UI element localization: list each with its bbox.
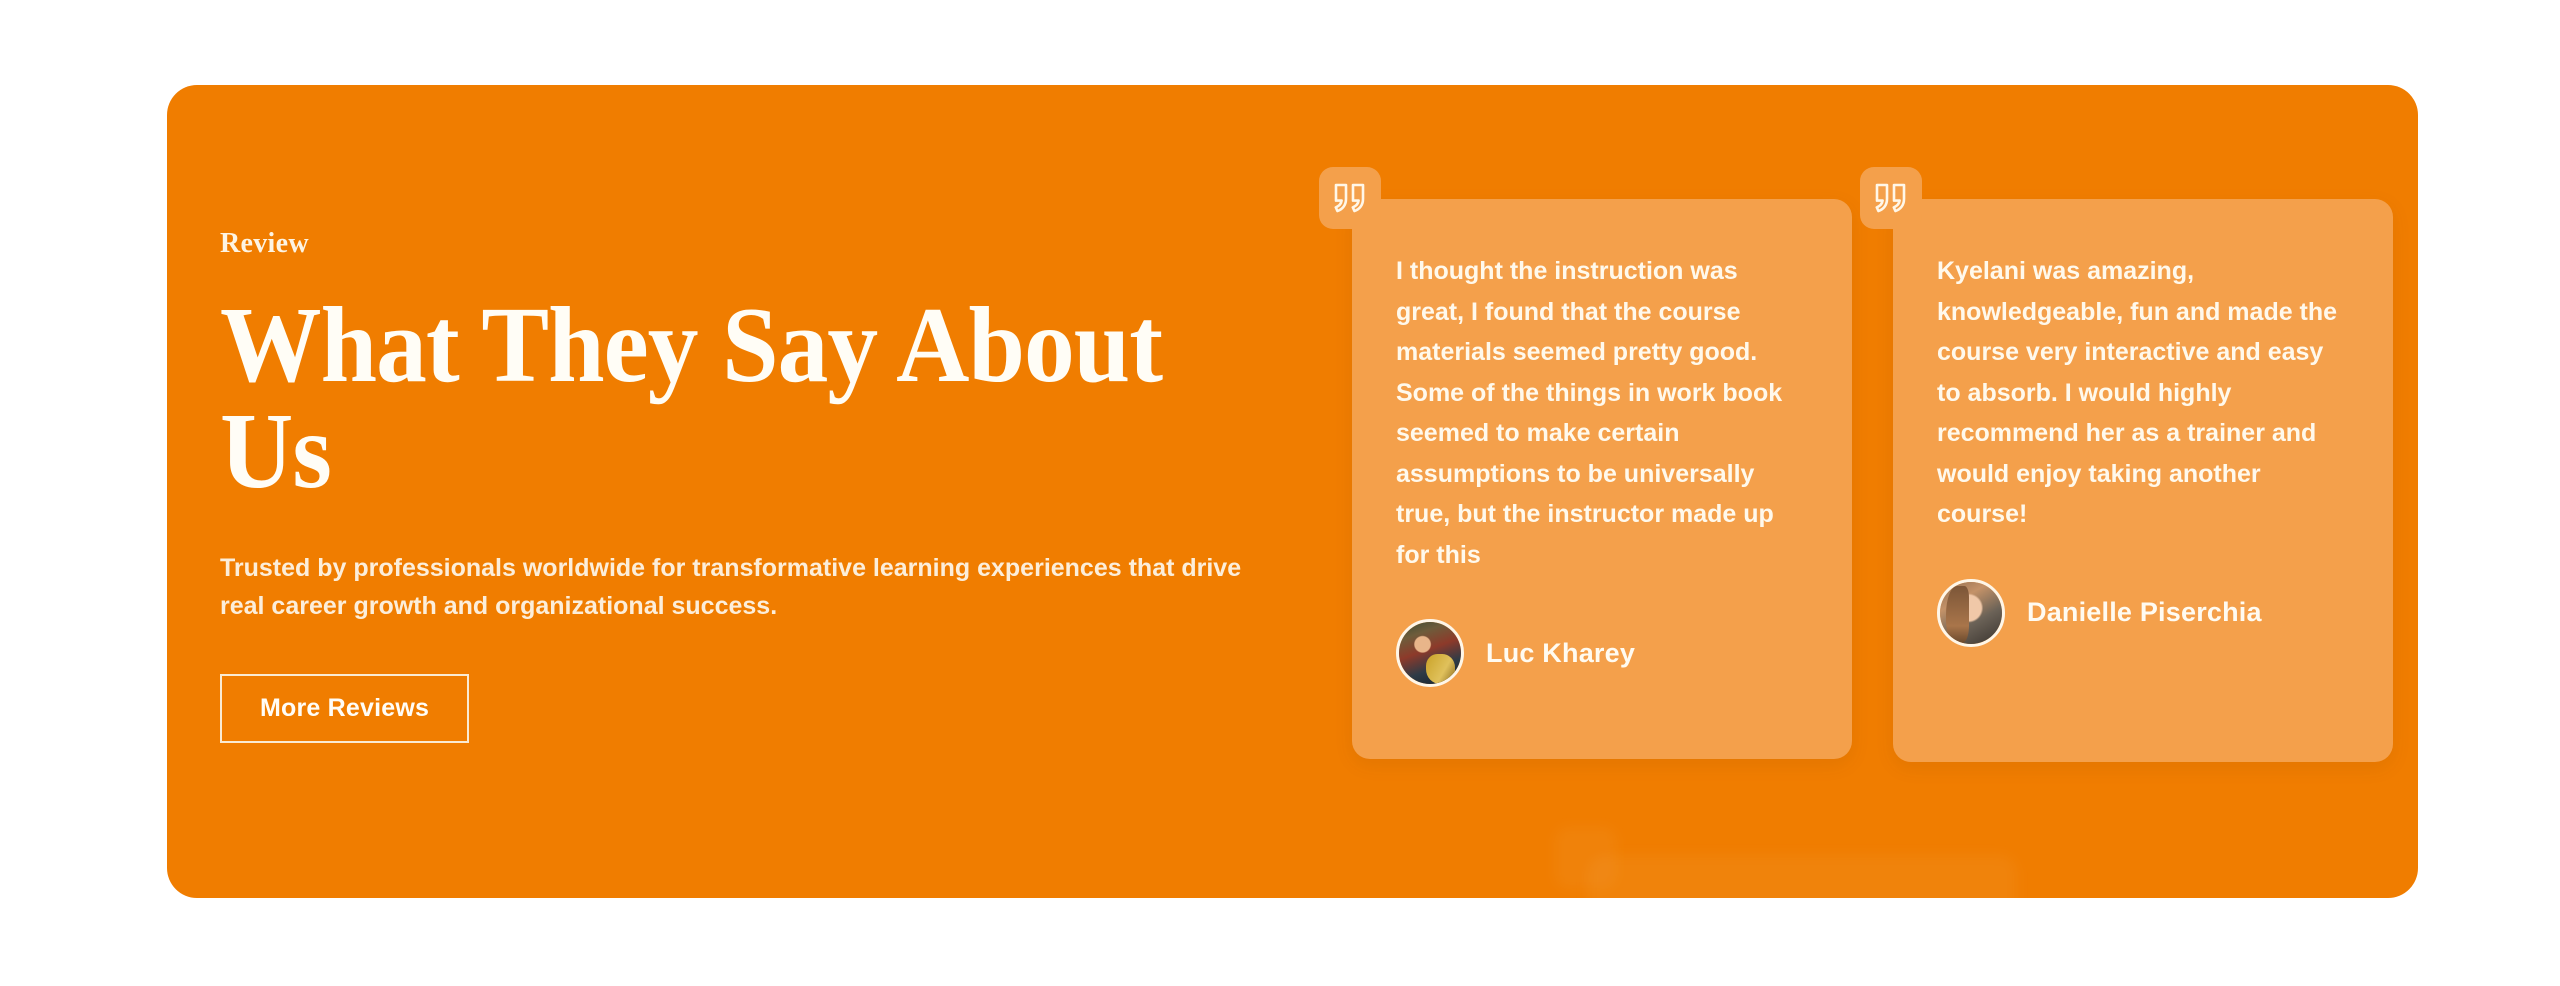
testimonial-author-row: Luc Kharey — [1396, 619, 1808, 687]
testimonial-author-name: Luc Kharey — [1486, 638, 1635, 669]
testimonial-card[interactable]: I thought the instruction was great, I f… — [1352, 199, 1852, 759]
testimonial-author-row: Danielle Piserchia — [1937, 579, 2349, 647]
decorative-ghost-card — [1587, 855, 2017, 898]
testimonial-quote: I thought the instruction was great, I f… — [1396, 251, 1808, 575]
quote-icon — [1319, 167, 1381, 229]
testimonial-card-list: I thought the instruction was great, I f… — [1319, 167, 2379, 817]
decorative-ghost-quote-icon — [1555, 827, 1617, 889]
avatar — [1937, 579, 2005, 647]
page-root: Review What They Say About Us Trusted by… — [0, 0, 2560, 986]
page-title: What They Say About Us — [220, 293, 1169, 505]
quote-icon — [1860, 167, 1922, 229]
testimonials-panel: Review What They Say About Us Trusted by… — [167, 85, 2418, 898]
section-subtitle: Trusted by professionals worldwide for t… — [220, 549, 1270, 627]
testimonial-author-name: Danielle Piserchia — [2027, 597, 2262, 628]
more-reviews-button[interactable]: More Reviews — [220, 674, 469, 743]
testimonial-card[interactable]: Kyelani was amazing, knowledgeable, fun … — [1893, 199, 2393, 762]
avatar — [1396, 619, 1464, 687]
intro-column: Review What They Say About Us Trusted by… — [220, 230, 1320, 743]
testimonial-quote: Kyelani was amazing, knowledgeable, fun … — [1937, 251, 2349, 535]
section-eyebrow: Review — [220, 230, 1320, 258]
